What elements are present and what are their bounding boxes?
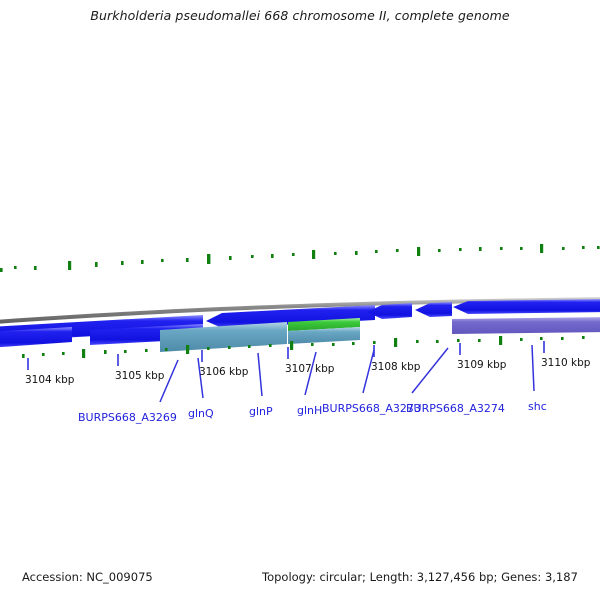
footer-bar: Accession: NC_009075 Topology: circular;… — [0, 570, 600, 586]
genome-track-panel[interactable]: 3104 kbp 3105 kbp 3106 kbp 3107 kbp 3108… — [0, 0, 600, 600]
genome-graphic[interactable] — [0, 0, 600, 600]
gene-label-glnq[interactable]: glnQ — [188, 407, 214, 420]
gene-label-shc[interactable]: shc — [528, 400, 547, 413]
genome-metadata-text: Topology: circular; Length: 3,127,456 bp… — [262, 570, 578, 584]
gene-label-glnh[interactable]: glnH — [297, 404, 322, 417]
gene-arrow-left-icon[interactable] — [453, 299, 600, 314]
ruler-label: 3104 kbp — [25, 374, 74, 386]
gene-label-glnp[interactable]: glnP — [249, 405, 273, 418]
upper-marker-row — [0, 244, 600, 272]
ruler-label: 3106 kbp — [199, 366, 248, 378]
accession-text: Accession: NC_009075 — [22, 570, 153, 584]
ruler-label: 3107 kbp — [285, 363, 334, 375]
ruler-label: 3108 kbp — [371, 361, 420, 373]
purple-domain-bar[interactable] — [452, 317, 600, 334]
gene-label-burps668-a3274[interactable]: BURPS668_A3274 — [406, 402, 505, 415]
gene-label-burps668-a3269[interactable]: BURPS668_A3269 — [78, 411, 177, 424]
sequence-viewer[interactable]: Burkholderia pseudomallei 668 chromosome… — [0, 0, 600, 600]
ruler-label: 3105 kbp — [115, 370, 164, 382]
ruler-label: 3109 kbp — [457, 359, 506, 371]
ruler-label: 3110 kbp — [541, 357, 590, 369]
